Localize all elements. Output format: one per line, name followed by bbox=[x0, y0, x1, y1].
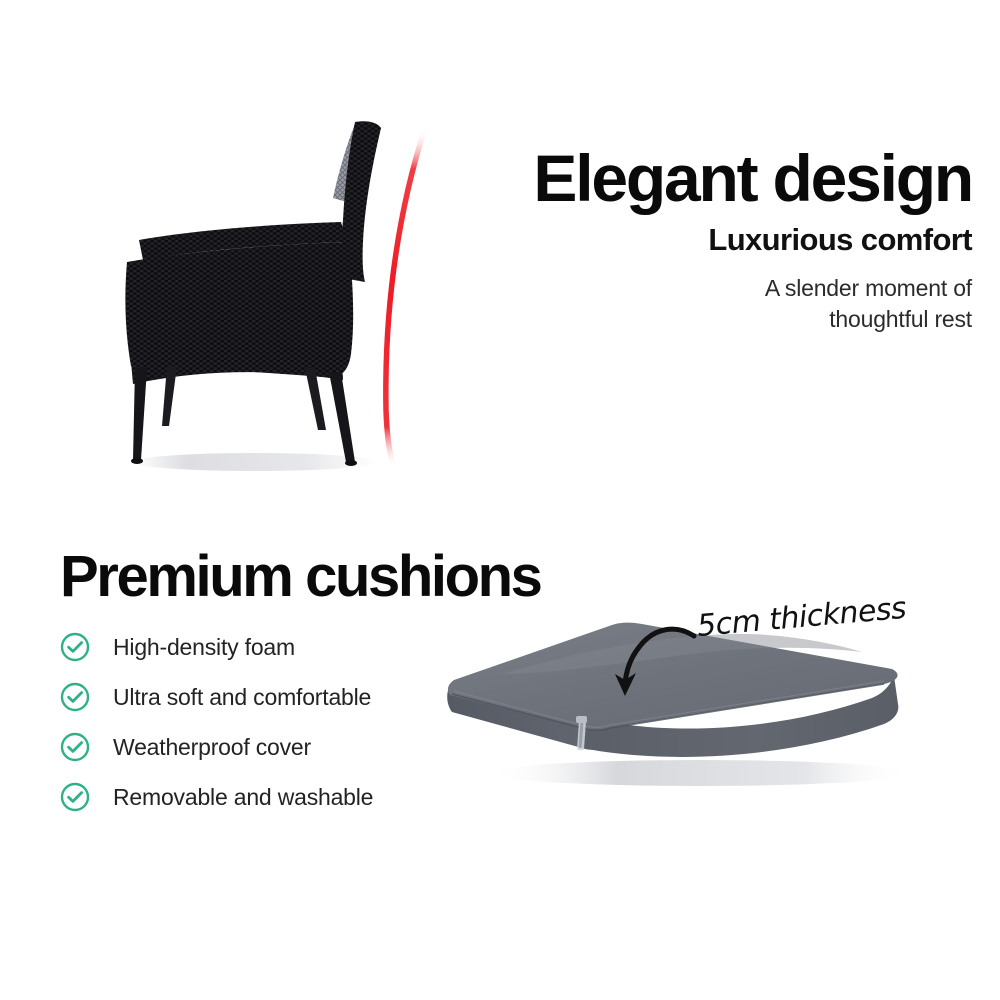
headline-subtitle: Luxurious comfort bbox=[452, 221, 972, 260]
check-circle-icon bbox=[60, 732, 90, 762]
headline-block: Elegant design Luxurious comfort A slend… bbox=[452, 146, 972, 334]
chair-foot-left bbox=[131, 458, 143, 464]
feature-label: Weatherproof cover bbox=[113, 734, 311, 761]
check-circle-icon bbox=[60, 632, 90, 662]
page-title: Elegant design bbox=[452, 146, 972, 211]
cushion-floor-shadow bbox=[490, 760, 910, 786]
chair-product-image bbox=[105, 110, 445, 480]
chair-leg-front-right bbox=[329, 372, 355, 462]
feature-label: High-density foam bbox=[113, 634, 295, 661]
headline-description-line-2: thoughtful rest bbox=[829, 306, 972, 332]
check-circle-icon bbox=[60, 782, 90, 812]
chair-floor-shadow bbox=[133, 453, 377, 471]
infographic-canvas: Elegant design Luxurious comfort A slend… bbox=[0, 0, 1000, 1000]
headline-description: A slender moment of thoughtful rest bbox=[452, 273, 972, 334]
chair-leg-back-right bbox=[305, 368, 326, 430]
cushion-product-image: 5cm thickness bbox=[432, 588, 952, 818]
feature-label: Removable and washable bbox=[113, 784, 373, 811]
red-accent-curve bbox=[386, 128, 425, 468]
check-circle-icon bbox=[60, 682, 90, 712]
chair-leg-front-left bbox=[133, 368, 147, 460]
thickness-annotation-text: 5cm thickness bbox=[696, 591, 908, 644]
headline-description-line-1: A slender moment of bbox=[765, 275, 972, 301]
feature-label: Ultra soft and comfortable bbox=[113, 684, 371, 711]
chair-foot-right bbox=[345, 460, 357, 466]
